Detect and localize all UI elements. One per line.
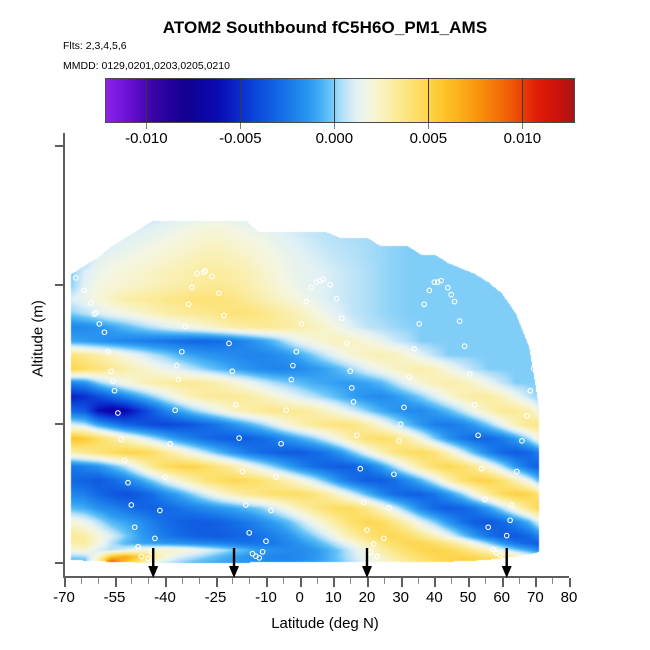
x-axis-tick-minor	[485, 578, 486, 584]
x-axis-tick-major	[266, 578, 268, 587]
x-axis-tick-minor	[182, 578, 183, 584]
x-axis-tick-minor	[199, 578, 200, 584]
curtain-heatmap-field	[0, 0, 650, 650]
x-axis-tick-major	[216, 578, 218, 587]
x-axis-tick-major	[300, 578, 302, 587]
x-axis-tick-major	[434, 578, 436, 587]
y-axis-tick	[55, 562, 64, 564]
y-axis-tick	[55, 284, 64, 286]
x-axis-tick-minor	[148, 578, 149, 584]
y-axis-tick	[55, 423, 64, 425]
x-axis-tick-major	[367, 578, 369, 587]
x-axis-tick-minor	[98, 578, 99, 584]
x-axis-title: Latitude (deg N)	[165, 615, 485, 632]
x-axis-tick-major	[535, 578, 537, 587]
x-axis-tick-label: 80	[529, 589, 609, 606]
x-axis-tick-minor	[418, 578, 419, 584]
x-axis-tick-major	[115, 578, 117, 587]
x-axis-tick-minor	[451, 578, 452, 584]
chart-root: ATOM2 Southbound fC5H6O_PM1_AMS Flts: 2,…	[0, 0, 650, 650]
y-axis-line	[63, 133, 65, 577]
x-axis-tick-minor	[232, 578, 233, 584]
x-axis-tick-minor	[249, 578, 250, 584]
x-axis-tick-minor	[81, 578, 82, 584]
x-axis-tick-minor	[384, 578, 385, 584]
x-axis-tick-major	[333, 578, 335, 587]
x-axis-tick-minor	[519, 578, 520, 584]
x-axis-tick-minor	[317, 578, 318, 584]
x-axis-tick-major	[569, 578, 571, 587]
x-axis-tick-minor	[552, 578, 553, 584]
x-axis-tick-minor	[131, 578, 132, 584]
y-axis-tick	[55, 145, 64, 147]
x-axis-tick-minor	[350, 578, 351, 584]
x-axis-tick-major	[64, 578, 66, 587]
x-axis-tick-minor	[283, 578, 284, 584]
y-axis-title: Altitude (m)	[30, 259, 47, 419]
x-axis-tick-major	[401, 578, 403, 587]
x-axis-tick-major	[502, 578, 504, 587]
x-axis-tick-major	[468, 578, 470, 587]
x-axis-tick-major	[165, 578, 167, 587]
